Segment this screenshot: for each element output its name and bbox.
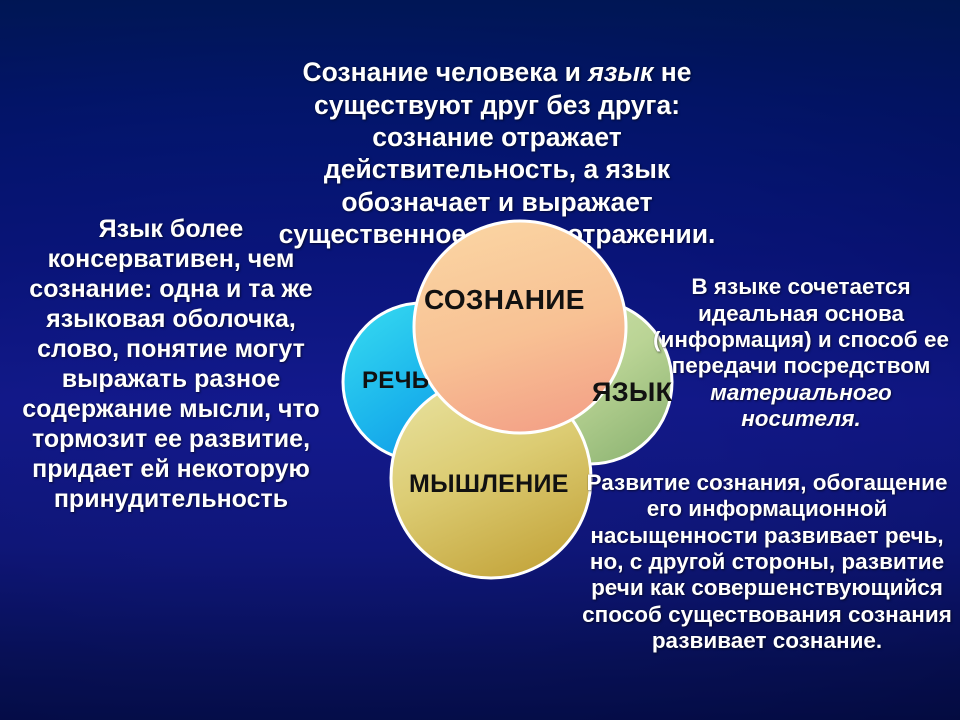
- right-bottom-text-block: Развитие сознания, обогащение его информ…: [576, 470, 958, 654]
- right-top-text-block: В языке сочетается идеальная основа (инф…: [648, 248, 954, 432]
- title-segment-2: не: [653, 57, 691, 87]
- title-segment-1: Сознание человека и: [302, 57, 588, 87]
- venn-label-myshlenie: МЫШЛЕНИЕ: [409, 470, 569, 499]
- right-top-text-body: В языке сочетается идеальная основа (инф…: [653, 274, 949, 378]
- left-text-block: Язык более консервативен, чем сознание: …: [6, 214, 336, 514]
- right-top-text-emphasis: материального носителя.: [710, 380, 892, 431]
- venn-label-rech: РЕЧЬ: [362, 367, 429, 395]
- venn-label-soznanie: СОЗНАНИЕ: [424, 284, 585, 316]
- title-emphasis-yazyk: язык: [588, 57, 653, 87]
- slide-canvas: Сознание человека и язык не существуют д…: [0, 0, 960, 720]
